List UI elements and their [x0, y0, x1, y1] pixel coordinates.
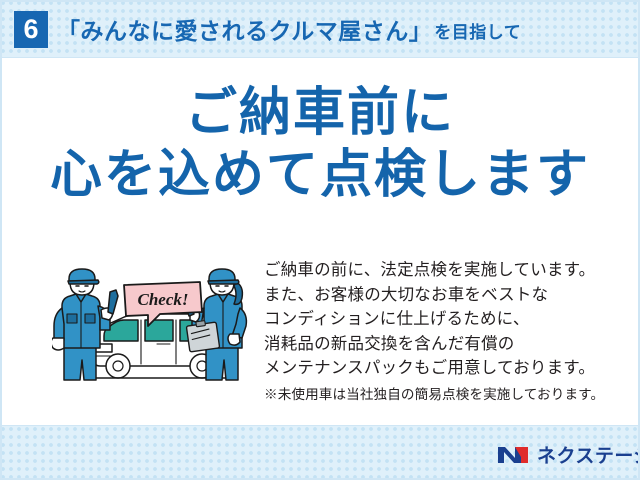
body-line: コンディションに仕上げるために、: [264, 307, 630, 332]
brand-logo: ネクステージ: [497, 440, 640, 468]
mechanics-illustration: .ln { fill:none; stroke:#1a1a1a; stroke-…: [52, 268, 262, 400]
headline-line-1: ご納車前に: [0, 82, 640, 144]
body-copy: ご納車の前に、法定点検を実施しています。 また、お客様の大切なお車をベストな コ…: [264, 258, 630, 407]
header-title-suffix: を目指して: [434, 18, 521, 43]
header-title-main: 「みんなに愛されるクルマ屋さん」: [57, 12, 432, 46]
body-line: ご納車の前に、法定点検を実施しています。: [264, 258, 630, 283]
header-title: 「みんなに愛されるクルマ屋さん」 を目指して: [57, 12, 521, 48]
body-line: 消耗品の新品交換を含んだ有償の: [264, 332, 630, 357]
body-line: また、お客様の大切なお車をベストな: [264, 283, 630, 308]
brand-name: ネクステージ: [537, 441, 640, 468]
frame-border: [0, 0, 640, 480]
body-line: メンテナンスパックもご用意しております。: [264, 356, 630, 381]
check-bubble-label: Check!: [138, 290, 189, 309]
illustration-svg: .ln { fill:none; stroke:#1a1a1a; stroke-…: [52, 268, 262, 400]
body-note: ※未使用車は当社独自の簡易点検を実施しております。: [264, 383, 630, 407]
nextage-n-mark-icon: [497, 443, 531, 465]
promotional-banner: 6 「みんなに愛されるクルマ屋さん」 を目指して ご納車前に 心を込めて点検しま…: [0, 0, 640, 480]
section-number-badge: 6: [14, 11, 48, 48]
headline-line-2: 心を込めて点検します: [0, 144, 640, 206]
headline-block: ご納車前に 心を込めて点検します: [0, 82, 640, 206]
